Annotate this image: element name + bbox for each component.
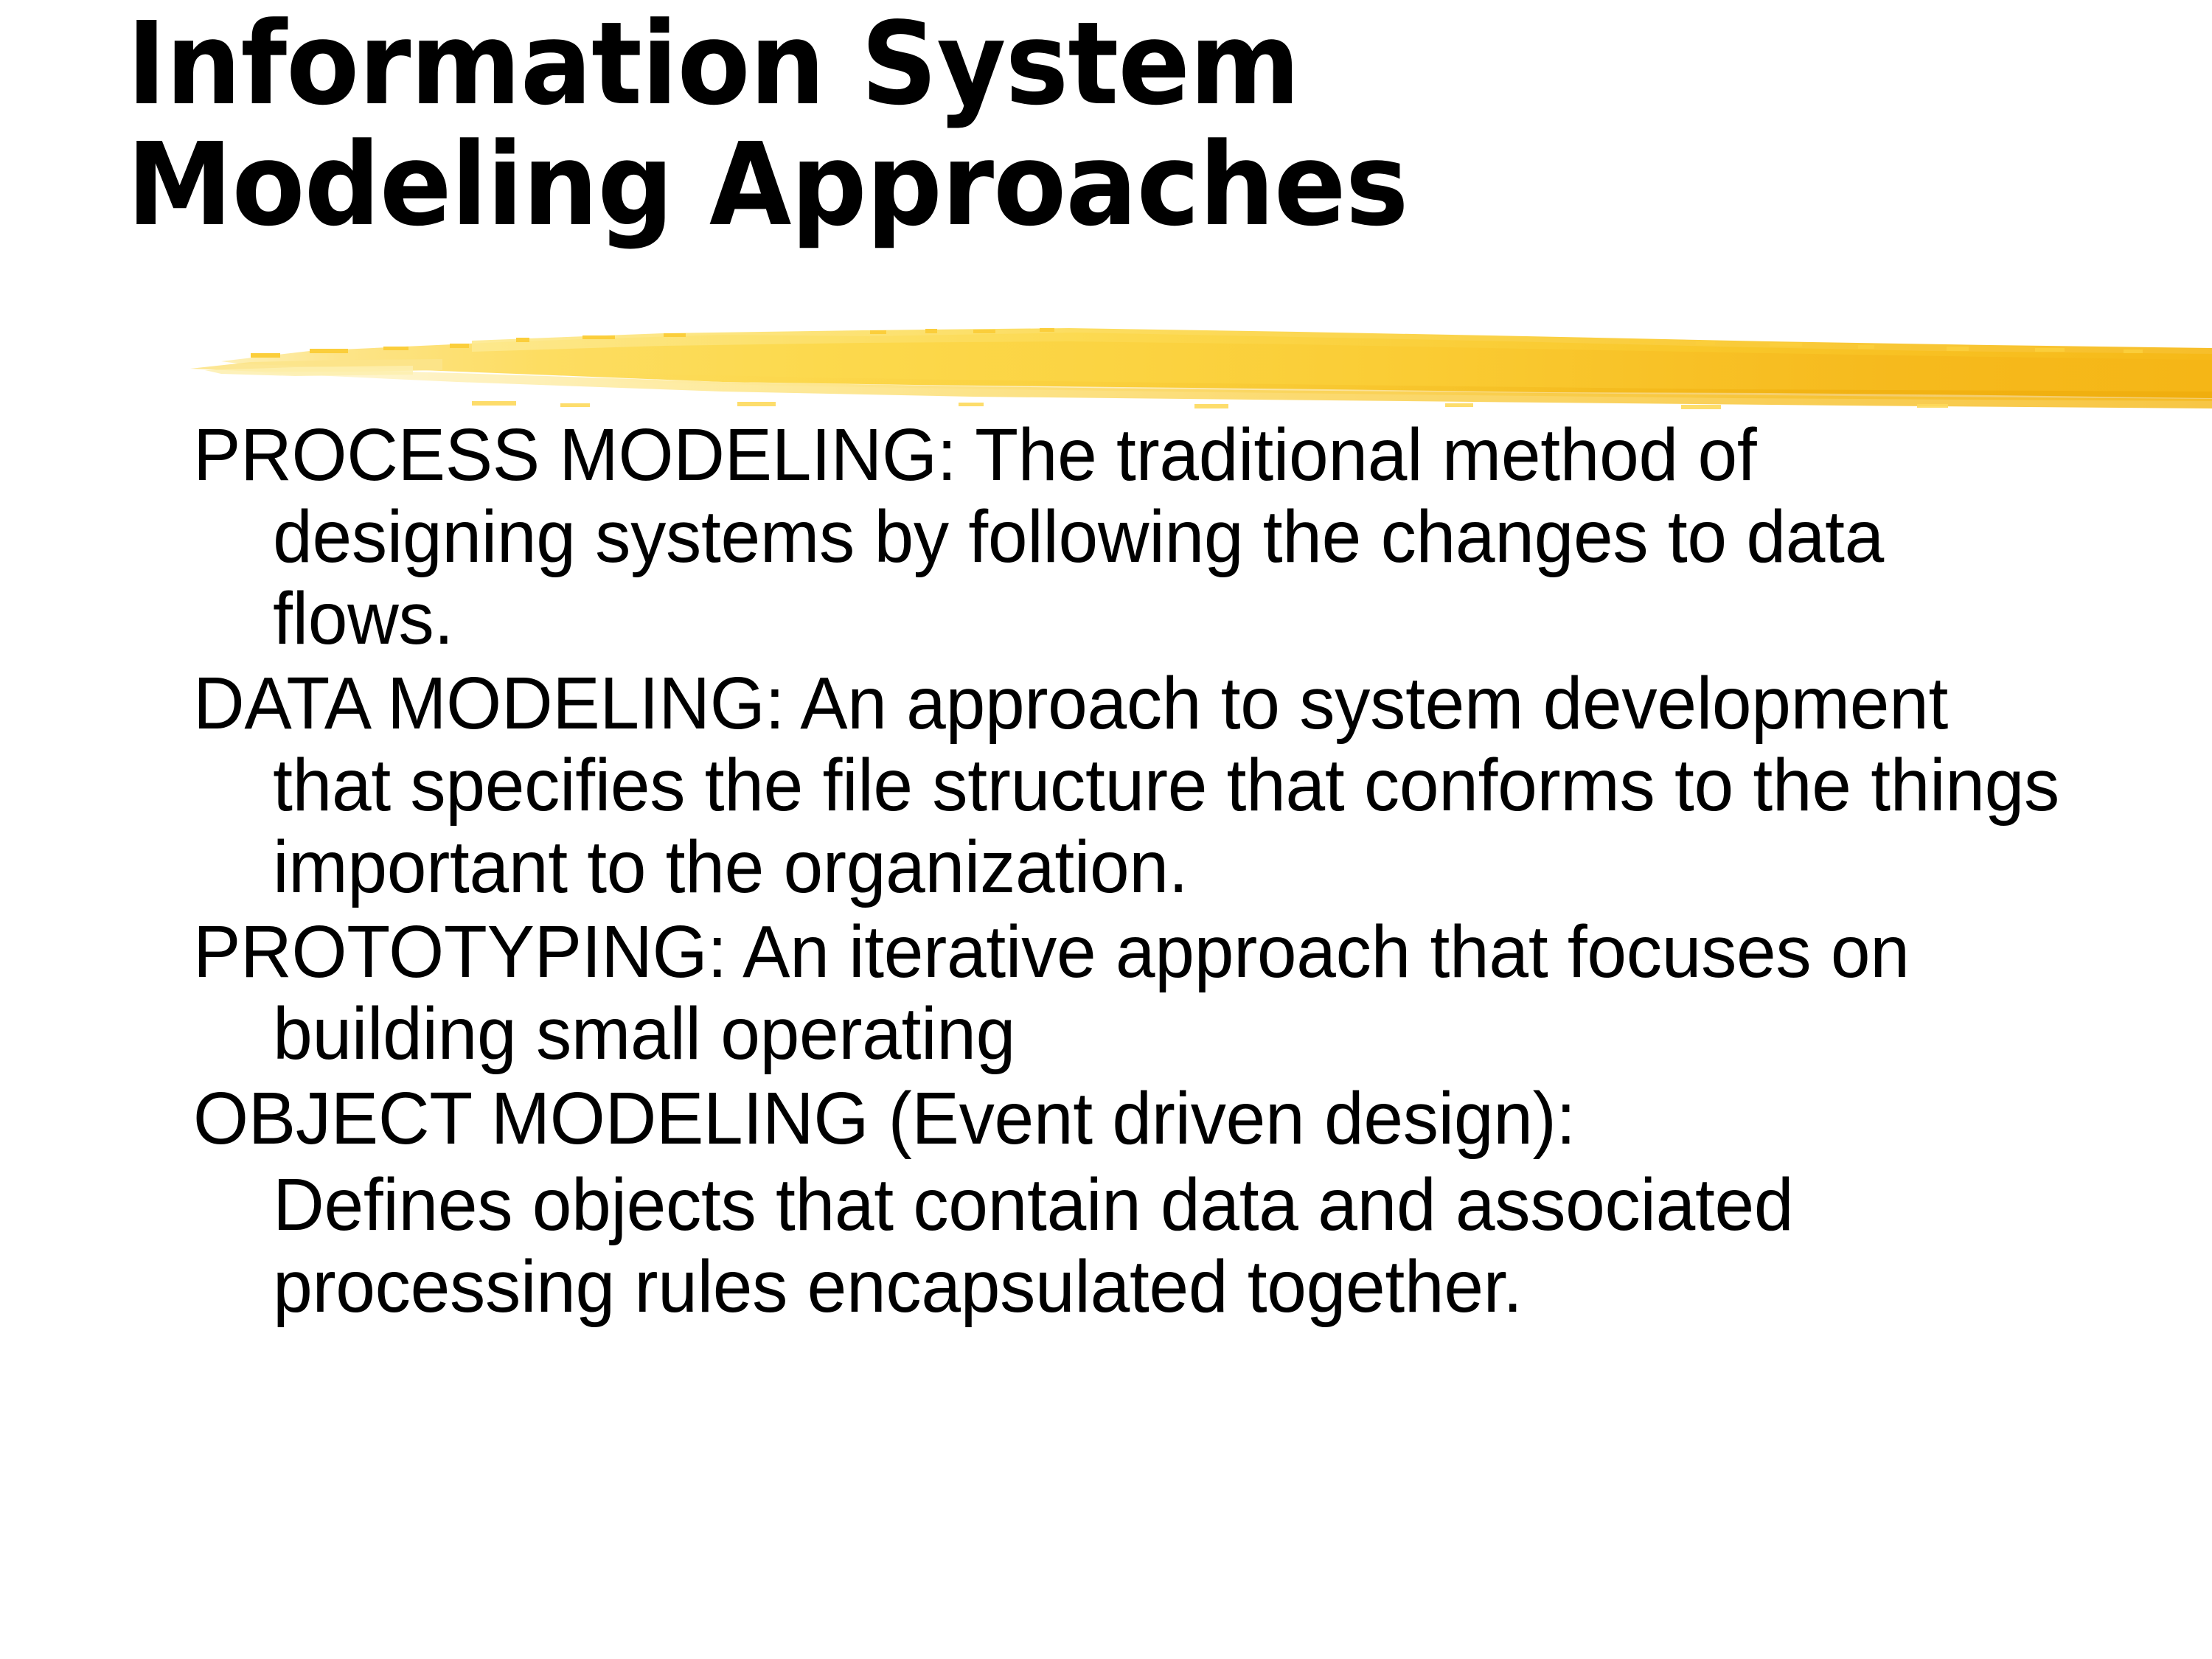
page-title: Information System Modeling Approaches xyxy=(127,21,2118,229)
body-paragraph-object-modeling: OBJECT MODELING (Event driven design): xyxy=(193,1078,2072,1160)
brush-left-tail xyxy=(190,359,442,372)
brush-bottom-feather xyxy=(243,367,2212,408)
brush-stroke-icon xyxy=(0,319,2212,422)
page-title-line-2: Modeling Approaches xyxy=(127,142,1978,229)
brush-dark-streak xyxy=(560,372,2212,401)
brush-top-highlight xyxy=(472,328,2212,360)
body-paragraph-object-modeling-detail: Defines objects that contain data and as… xyxy=(193,1164,2072,1328)
slide-body: PROCESS MODELING: The traditional method… xyxy=(193,414,2140,1328)
yellow-brush-stroke-divider xyxy=(0,319,2212,422)
body-paragraph-process-modeling: PROCESS MODELING: The traditional method… xyxy=(193,414,2072,660)
brush-left-tail-soft xyxy=(205,366,413,376)
brush-main-body xyxy=(221,333,2212,398)
brush-lower-flecks xyxy=(472,401,1948,409)
slide-canvas: Information System Modeling Approaches xyxy=(0,0,2212,1659)
body-paragraph-prototyping: PROTOTYPING: An iterative approach that … xyxy=(193,911,2072,1075)
body-paragraph-data-modeling: DATA MODELING: An approach to system dev… xyxy=(193,663,2072,908)
page-title-line-1: Information System xyxy=(127,21,1978,108)
brush-bristle-flecks xyxy=(251,328,2143,358)
